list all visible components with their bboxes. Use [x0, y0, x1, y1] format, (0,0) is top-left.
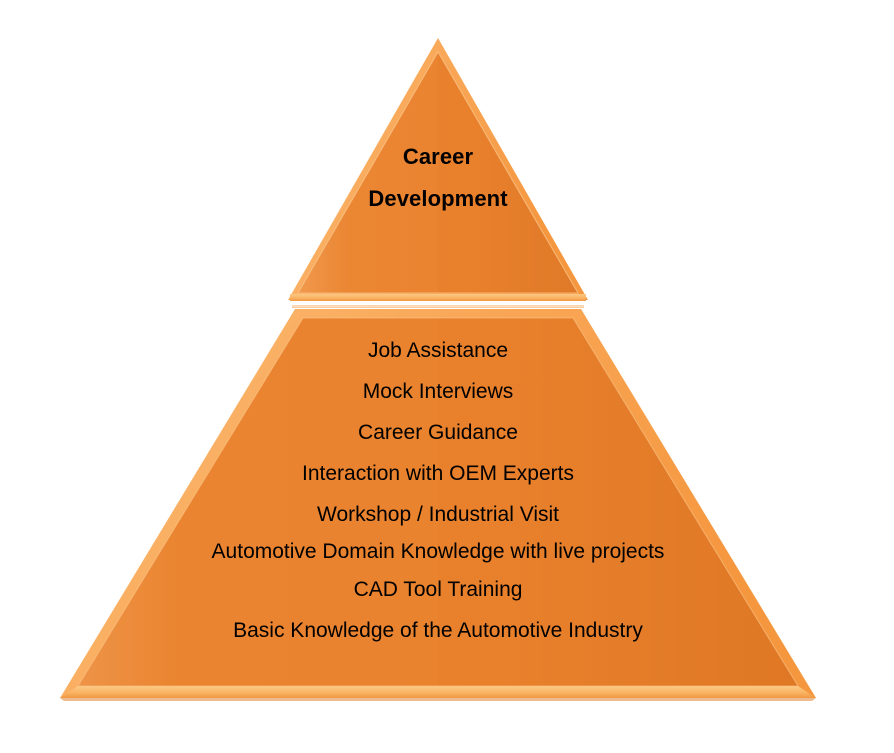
tier-divider [286, 301, 590, 308]
pyramid-shape-graphic [0, 0, 894, 753]
base-tier-shape[interactable] [60, 309, 816, 701]
pyramid-diagram: Career Development Job Assistance Mock I… [0, 0, 894, 753]
apex-tier-shape[interactable] [288, 38, 588, 301]
